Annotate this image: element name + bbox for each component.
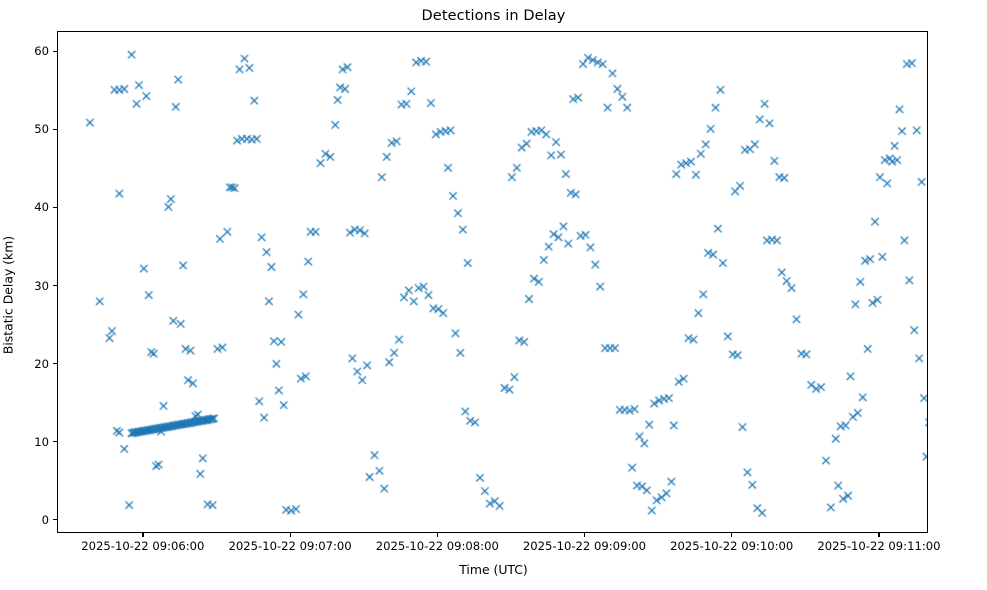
x-tick-1 (290, 533, 291, 537)
x-axis-label: Time (UTC) (0, 562, 987, 577)
page-title: Detections in Delay (0, 8, 987, 24)
y-tick-label-0: 0 (42, 513, 49, 527)
y-axis-label: Bistatic Delay (km) (0, 0, 16, 590)
y-tick-0 (53, 519, 57, 520)
y-tick-label-1: 10 (34, 435, 49, 449)
x-tick-label-2: 2025-10-22 09:08:00 (376, 539, 499, 553)
x-tick-5 (878, 533, 879, 537)
y-axis-label-text: Bistatic Delay (km) (1, 236, 16, 354)
y-tick-1 (53, 441, 57, 442)
y-tick-label-5: 50 (34, 122, 49, 136)
y-tick-label-2: 20 (34, 357, 49, 371)
x-tick-label-0: 2025-10-22 09:06:00 (81, 539, 204, 553)
plot-area (57, 31, 928, 533)
x-axis-label-text: Time (UTC) (459, 562, 528, 577)
x-tick-label-5: 2025-10-22 09:11:00 (817, 539, 940, 553)
y-tick-label-4: 40 (34, 200, 49, 214)
y-tick-label-6: 60 (34, 44, 49, 58)
x-tick-2 (437, 533, 438, 537)
y-tick-4 (53, 207, 57, 208)
x-tick-0 (142, 533, 143, 537)
y-tick-5 (53, 129, 57, 130)
x-tick-label-4: 2025-10-22 09:10:00 (670, 539, 793, 553)
x-tick-label-1: 2025-10-22 09:07:00 (229, 539, 352, 553)
x-tick-label-3: 2025-10-22 09:09:00 (523, 539, 646, 553)
scatter-plot-canvas (58, 32, 928, 533)
y-tick-label-3: 30 (34, 279, 49, 293)
y-tick-2 (53, 363, 57, 364)
y-tick-6 (53, 51, 57, 52)
x-tick-3 (584, 533, 585, 537)
x-tick-4 (731, 533, 732, 537)
y-tick-3 (53, 285, 57, 286)
matplotlib-figure: Detections in Delay 2025-10-22 09:06:002… (0, 0, 987, 590)
